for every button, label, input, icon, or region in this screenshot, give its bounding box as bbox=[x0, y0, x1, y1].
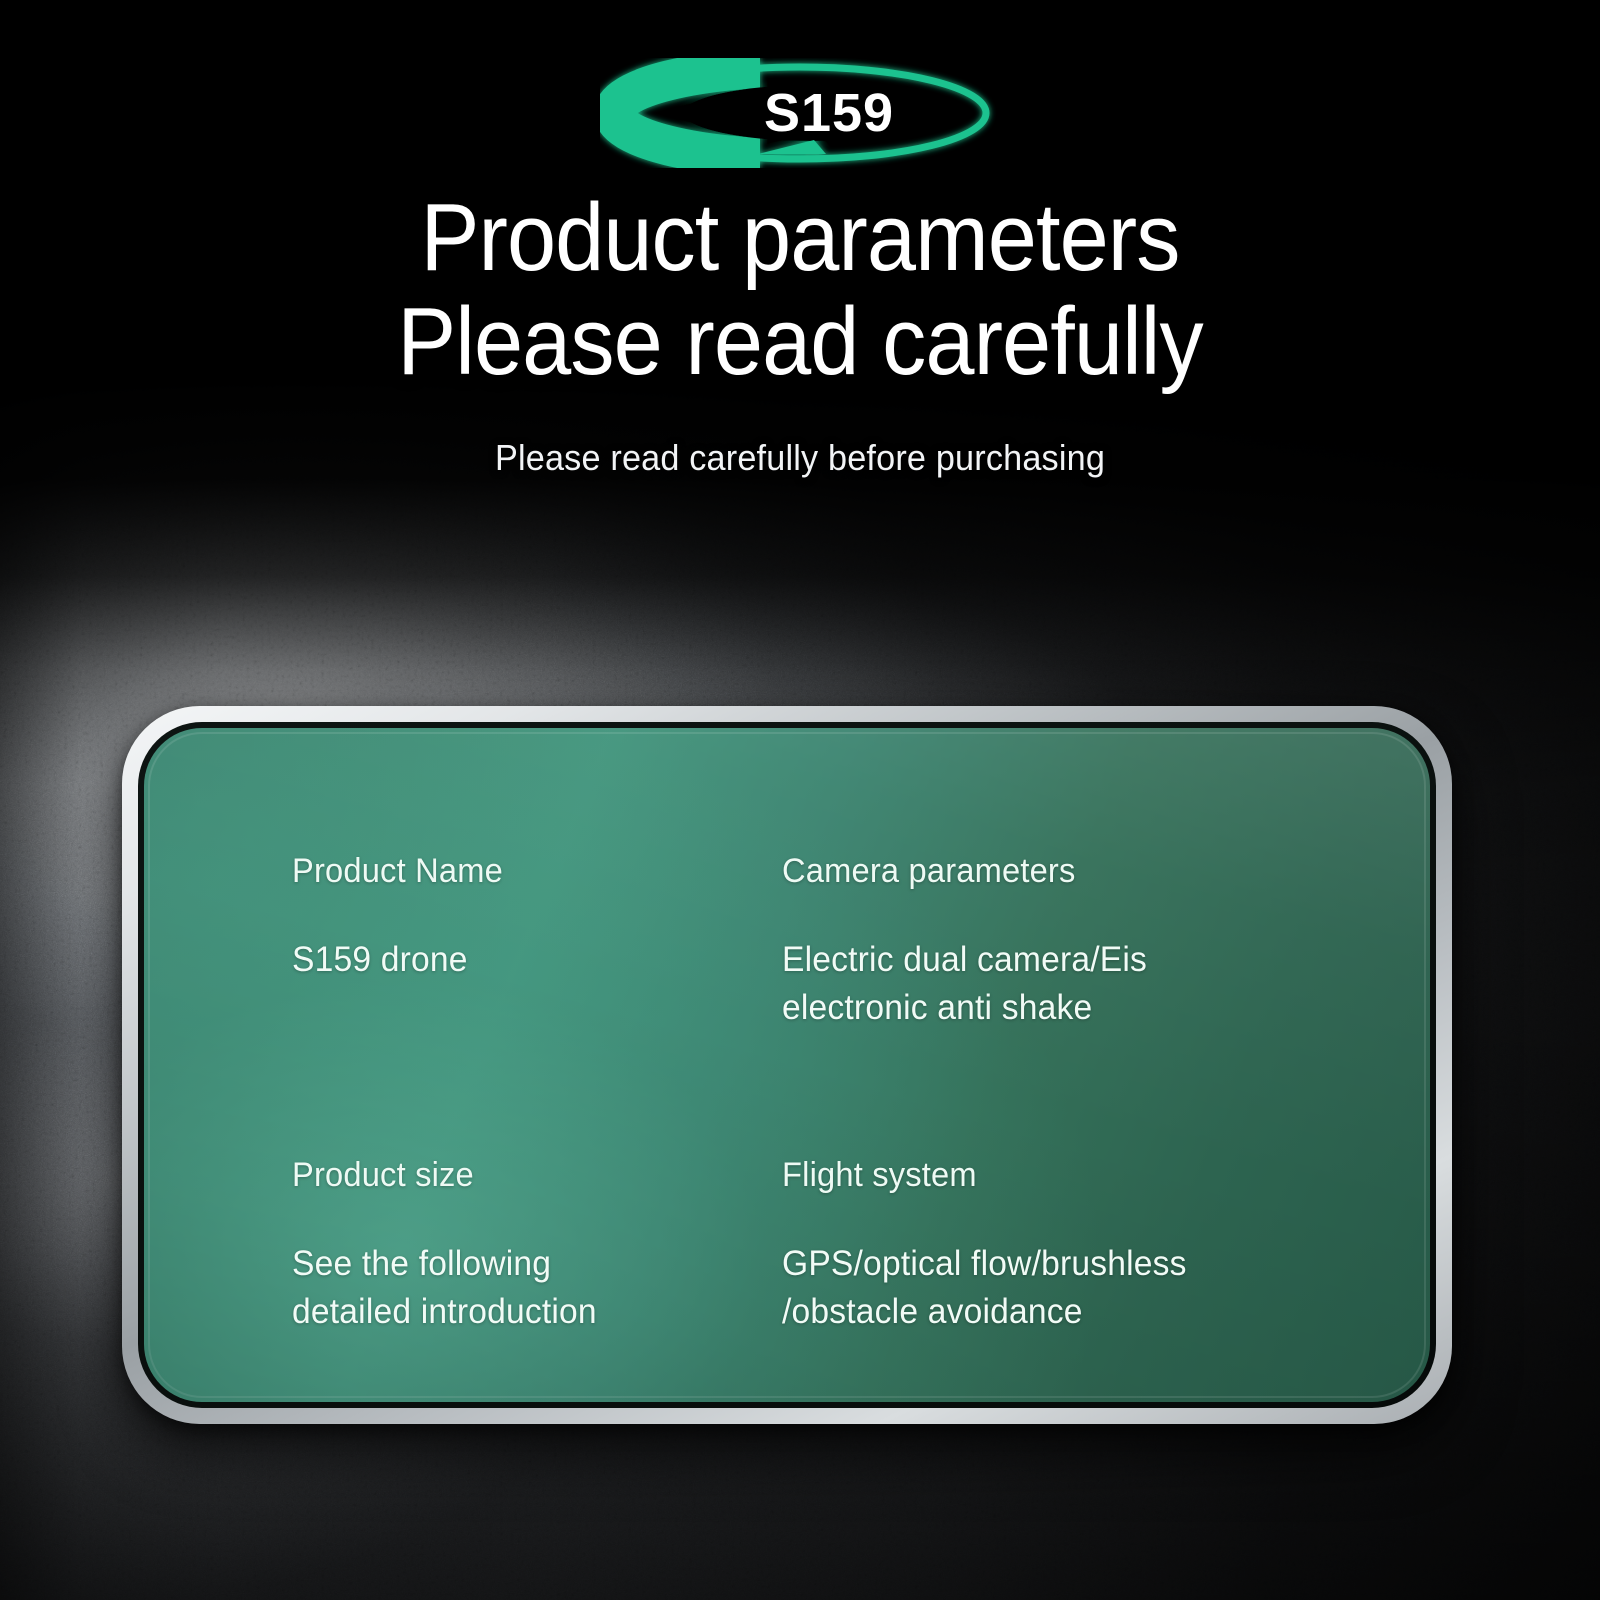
spec-value: See the following detailed introduction bbox=[292, 1240, 762, 1337]
brand-logo-text: S159 bbox=[600, 58, 1000, 168]
spec-item-product-name: Product Name S159 drone bbox=[292, 850, 782, 1032]
page-title-line-1: Product parameters bbox=[64, 186, 1536, 290]
spec-grid: Product Name S159 drone Camera parameter… bbox=[292, 850, 1360, 1336]
spec-label: Camera parameters bbox=[782, 850, 1337, 894]
page-subtitle: Please read carefully before purchasing bbox=[40, 437, 1560, 479]
spec-value: S159 drone bbox=[292, 936, 762, 984]
spec-item-camera-parameters: Camera parameters Electric dual camera/E… bbox=[782, 850, 1360, 1032]
page-title: Product parameters Please read carefully bbox=[64, 186, 1536, 393]
spec-item-flight-system: Flight system GPS/optical flow/brushless… bbox=[782, 1154, 1360, 1336]
spec-value: Electric dual camera/Eis electronic anti… bbox=[782, 936, 1337, 1033]
page-title-line-2: Please read carefully bbox=[64, 290, 1536, 394]
spec-label: Flight system bbox=[782, 1154, 1337, 1198]
spec-item-product-size: Product size See the following detailed … bbox=[292, 1154, 782, 1336]
product-parameters-page: S159 Product parameters Please read care… bbox=[0, 0, 1600, 1600]
spec-value: GPS/optical flow/brushless /obstacle avo… bbox=[782, 1240, 1337, 1337]
spec-label: Product size bbox=[292, 1154, 762, 1198]
spec-card-shadow-gap: Product Name S159 drone Camera parameter… bbox=[138, 722, 1436, 1408]
spec-card-frame: Product Name S159 drone Camera parameter… bbox=[122, 706, 1452, 1424]
page-header: S159 Product parameters Please read care… bbox=[0, 0, 1600, 479]
spec-label: Product Name bbox=[292, 850, 762, 894]
spec-card-panel: Product Name S159 drone Camera parameter… bbox=[144, 728, 1430, 1402]
brand-logo: S159 bbox=[600, 58, 1000, 168]
